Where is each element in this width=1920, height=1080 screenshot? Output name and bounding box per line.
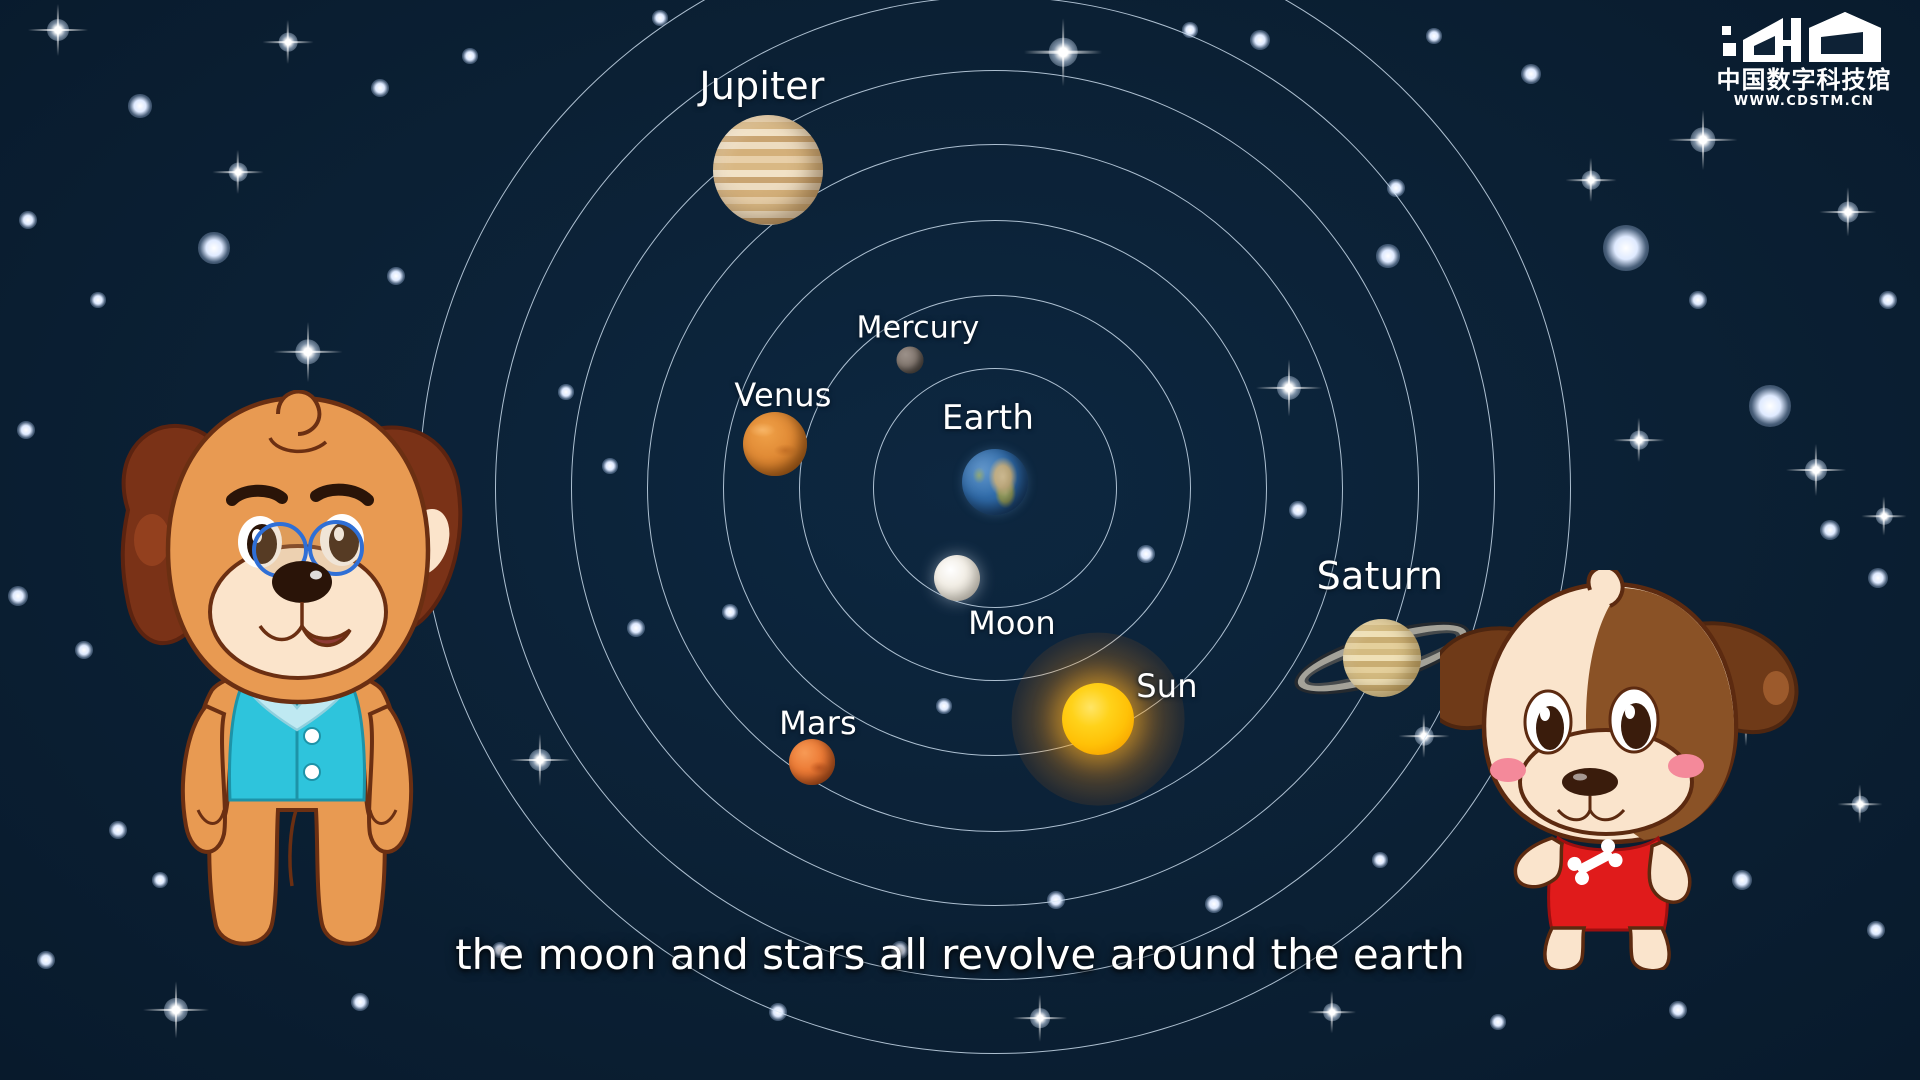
right-dog-eye-right-highlight xyxy=(1625,705,1635,719)
mars-planet xyxy=(789,739,835,785)
right-dog-leg-right xyxy=(1630,928,1669,970)
scene-canvas: EarthMoonMercuryVenusSunMarsJupiterSatur… xyxy=(0,0,1920,1080)
logo-url-text: WWW.CDSTM.CN xyxy=(1710,94,1898,109)
left-dog-nose-highlight xyxy=(310,571,322,580)
left-dog-button-top xyxy=(304,728,320,744)
left-dog-illustration xyxy=(120,390,470,950)
right-dog-cheek-left xyxy=(1490,758,1526,782)
saturn-orbit xyxy=(419,0,1571,1054)
venus-planet xyxy=(743,412,807,476)
right-dog-cheek-right xyxy=(1668,754,1704,778)
left-dog-arm-right xyxy=(369,706,411,852)
mercury-label: Mercury xyxy=(856,311,979,346)
mars-label: Mars xyxy=(779,704,857,742)
moon-planet xyxy=(934,555,980,601)
sun-label: Sun xyxy=(1136,667,1197,705)
right-dog-arm-right xyxy=(1649,842,1689,902)
logo-chinese-name: 中国数字科技馆 xyxy=(1710,67,1898,93)
right-dog-nose xyxy=(1562,768,1618,796)
subtitle-caption: the moon and stars all revolve around th… xyxy=(455,930,1465,979)
right-dog-character xyxy=(1440,570,1800,970)
earth-planet xyxy=(962,449,1028,515)
left-dog-arm-left xyxy=(183,706,225,852)
sun-planet xyxy=(1062,683,1134,755)
mercury-planet xyxy=(897,347,924,374)
channel-logo: 中国数字科技馆 WWW.CDSTM.CN xyxy=(1710,10,1898,109)
right-dog-illustration xyxy=(1440,570,1800,970)
venus-label: Venus xyxy=(734,376,831,414)
left-dog-button-bottom xyxy=(304,764,320,780)
right-dog-eye-left-highlight xyxy=(1540,707,1550,721)
right-dog-nose-highlight xyxy=(1573,774,1587,781)
earth-label: Earth xyxy=(942,398,1034,438)
left-dog-character xyxy=(120,390,470,950)
left-dog-leg-crease xyxy=(290,810,296,886)
jupiter-label: Jupiter xyxy=(699,64,824,108)
right-dog-ear-right-inner xyxy=(1763,671,1789,705)
saturn-planet xyxy=(1343,619,1421,697)
moon-label: Moon xyxy=(968,604,1056,642)
right-dog-arm-left xyxy=(1515,838,1562,887)
saturn-label: Saturn xyxy=(1317,554,1444,598)
left-dog-nose xyxy=(272,561,332,603)
right-dog-leg-left xyxy=(1545,928,1584,970)
jupiter-planet xyxy=(713,115,823,225)
cdstm-building-logo-icon xyxy=(1721,10,1887,66)
